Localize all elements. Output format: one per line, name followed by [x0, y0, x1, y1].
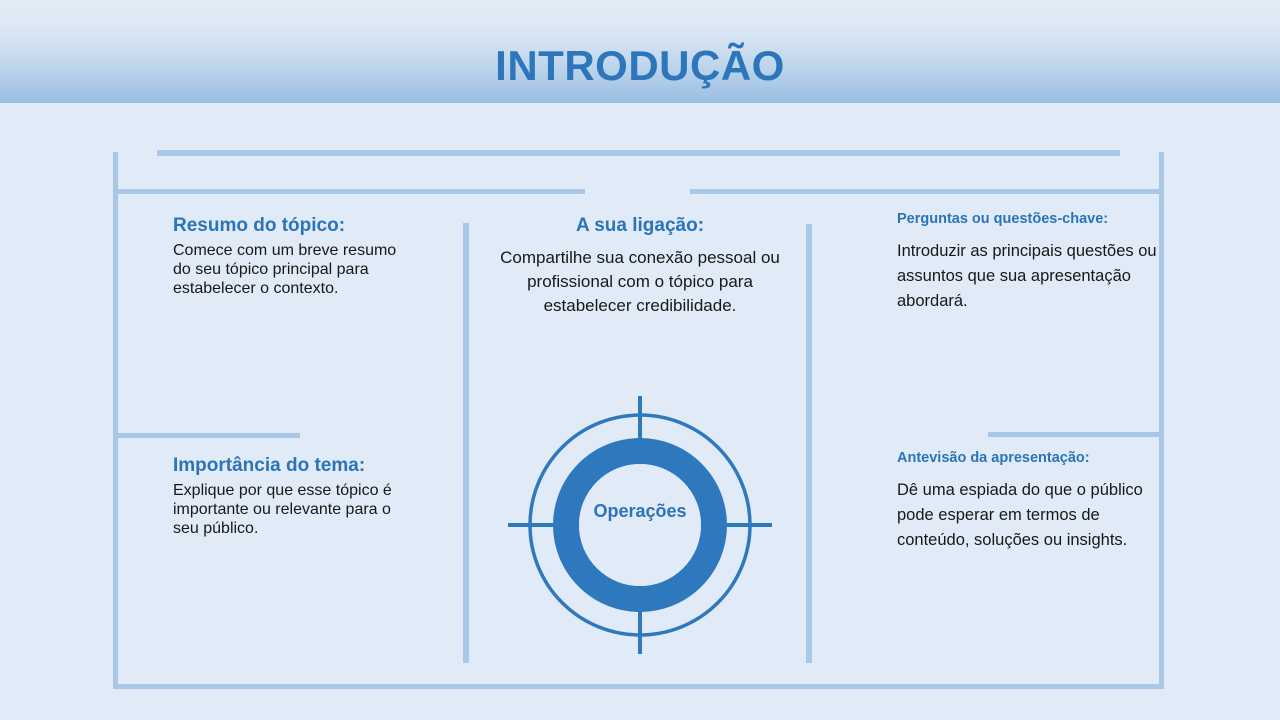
divider-rule-top	[157, 150, 1120, 156]
block-relevance-body: Explique por que esse tópico é important…	[173, 481, 408, 538]
block-preview-body: Dê uma espiada do que o público pode esp…	[897, 478, 1172, 553]
block-preview-heading: Antevisão da apresentação:	[897, 450, 1172, 466]
block-connection-heading: A sua ligação:	[490, 215, 790, 237]
diagram-center-label: Operações	[490, 501, 790, 522]
column-divider-left	[463, 223, 469, 663]
block-relevance-heading: Importância do tema:	[173, 455, 408, 477]
block-questions-heading: Perguntas ou questões-chave:	[897, 211, 1172, 227]
accent-rule-right	[988, 432, 1164, 437]
block-connection-body: Compartilhe sua conexão pessoal ou profi…	[490, 246, 790, 318]
frame-border-bottom	[113, 684, 1164, 689]
target-rings-icon: Operações	[490, 390, 790, 660]
block-summary-body: Comece com um breve resumo do seu tópico…	[173, 241, 408, 298]
block-summary-heading: Resumo do tópico:	[173, 215, 408, 237]
block-summary: Resumo do tópico: Comece com um breve re…	[173, 215, 408, 298]
divider-rule-second-right	[690, 189, 1164, 194]
frame-border-left	[113, 152, 118, 689]
column-divider-right	[806, 224, 812, 663]
block-preview: Antevisão da apresentação: Dê uma espiad…	[897, 450, 1172, 553]
page-title: INTRODUÇÃO	[0, 42, 1280, 90]
block-relevance: Importância do tema: Explique por que es…	[173, 455, 408, 538]
block-questions-body: Introduzir as principais questões ou ass…	[897, 239, 1172, 314]
block-connection: A sua ligação: Compartilhe sua conexão p…	[490, 215, 790, 318]
block-questions: Perguntas ou questões-chave: Introduzir …	[897, 211, 1172, 314]
divider-rule-second-left	[113, 189, 585, 194]
accent-rule-left	[113, 433, 300, 438]
